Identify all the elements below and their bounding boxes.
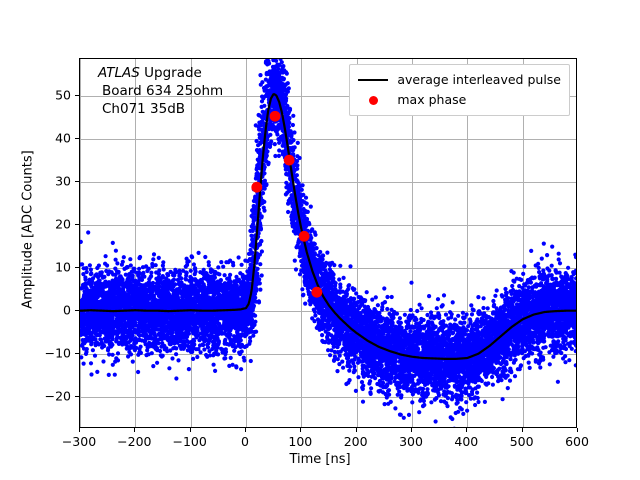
x-tick-label: 600 <box>565 434 589 449</box>
legend-label-max-phase: max phase <box>397 94 466 107</box>
x-tick-label: 500 <box>510 434 534 449</box>
x-tick-label: 200 <box>344 434 368 449</box>
y-tick-label: −20 <box>33 388 71 403</box>
y-tick-label: 0 <box>33 302 71 317</box>
y-tick-label: 20 <box>33 216 71 231</box>
x-tick-mark <box>79 428 80 432</box>
x-tick-mark <box>466 428 467 432</box>
y-tick-label: −10 <box>33 345 71 360</box>
max-phase-point-4 <box>299 231 310 242</box>
x-tick-mark <box>300 428 301 432</box>
plot-axes: ATLAS Upgrade Board 634 25ohm Ch071 35dB… <box>79 58 577 428</box>
y-tick-mark <box>75 353 79 354</box>
x-tick-label: −200 <box>117 434 151 449</box>
max-phase-point-1 <box>251 182 262 193</box>
x-tick-label: 0 <box>241 434 249 449</box>
y-tick-mark <box>75 310 79 311</box>
x-tick-label: −100 <box>172 434 206 449</box>
y-tick-label: 50 <box>33 87 71 102</box>
annotation-line-2: Board 634 25ohm <box>98 83 223 101</box>
annotation-text: ATLAS Upgrade Board 634 25ohm Ch071 35dB <box>98 65 223 118</box>
legend-box: average interleaved pulse max phase <box>349 64 570 116</box>
legend-label-average-pulse: average interleaved pulse <box>397 74 561 87</box>
y-tick-mark <box>75 138 79 139</box>
x-axis-label: Time [ns] <box>0 452 640 467</box>
x-tick-mark <box>134 428 135 432</box>
x-tick-label: 300 <box>399 434 423 449</box>
y-axis-label: Amplitude [ADC Counts] <box>21 110 36 350</box>
y-tick-mark <box>75 396 79 397</box>
max-phase-point-5 <box>311 287 322 298</box>
x-tick-mark <box>577 428 578 432</box>
y-tick-label: 10 <box>33 259 71 274</box>
x-tick-label: 100 <box>288 434 312 449</box>
y-tick-mark <box>75 224 79 225</box>
max-phase-point-3 <box>284 155 295 166</box>
legend-dot-key-icon <box>356 96 390 105</box>
legend-entry-max-phase: max phase <box>356 90 561 110</box>
x-tick-label: 400 <box>454 434 478 449</box>
x-tick-label: −300 <box>62 434 96 449</box>
annotation-line-1: ATLAS Upgrade <box>98 65 223 83</box>
y-tick-label: 40 <box>33 130 71 145</box>
legend-line-key-icon <box>356 79 390 81</box>
legend-entry-average-interleaved-pulse: average interleaved pulse <box>356 70 561 90</box>
y-tick-mark <box>75 181 79 182</box>
y-tick-mark <box>75 267 79 268</box>
y-tick-mark <box>75 95 79 96</box>
x-tick-mark <box>190 428 191 432</box>
max-phase-point-2 <box>270 111 281 122</box>
x-tick-mark <box>356 428 357 432</box>
x-tick-mark <box>245 428 246 432</box>
x-tick-mark <box>411 428 412 432</box>
y-tick-label: 30 <box>33 173 71 188</box>
x-tick-mark <box>522 428 523 432</box>
atlas-label: ATLAS <box>98 65 140 81</box>
upgrade-label: Upgrade <box>140 65 202 81</box>
figure-canvas: ATLAS Upgrade Board 634 25ohm Ch071 35dB… <box>0 0 640 480</box>
annotation-line-3: Ch071 35dB <box>98 101 223 119</box>
